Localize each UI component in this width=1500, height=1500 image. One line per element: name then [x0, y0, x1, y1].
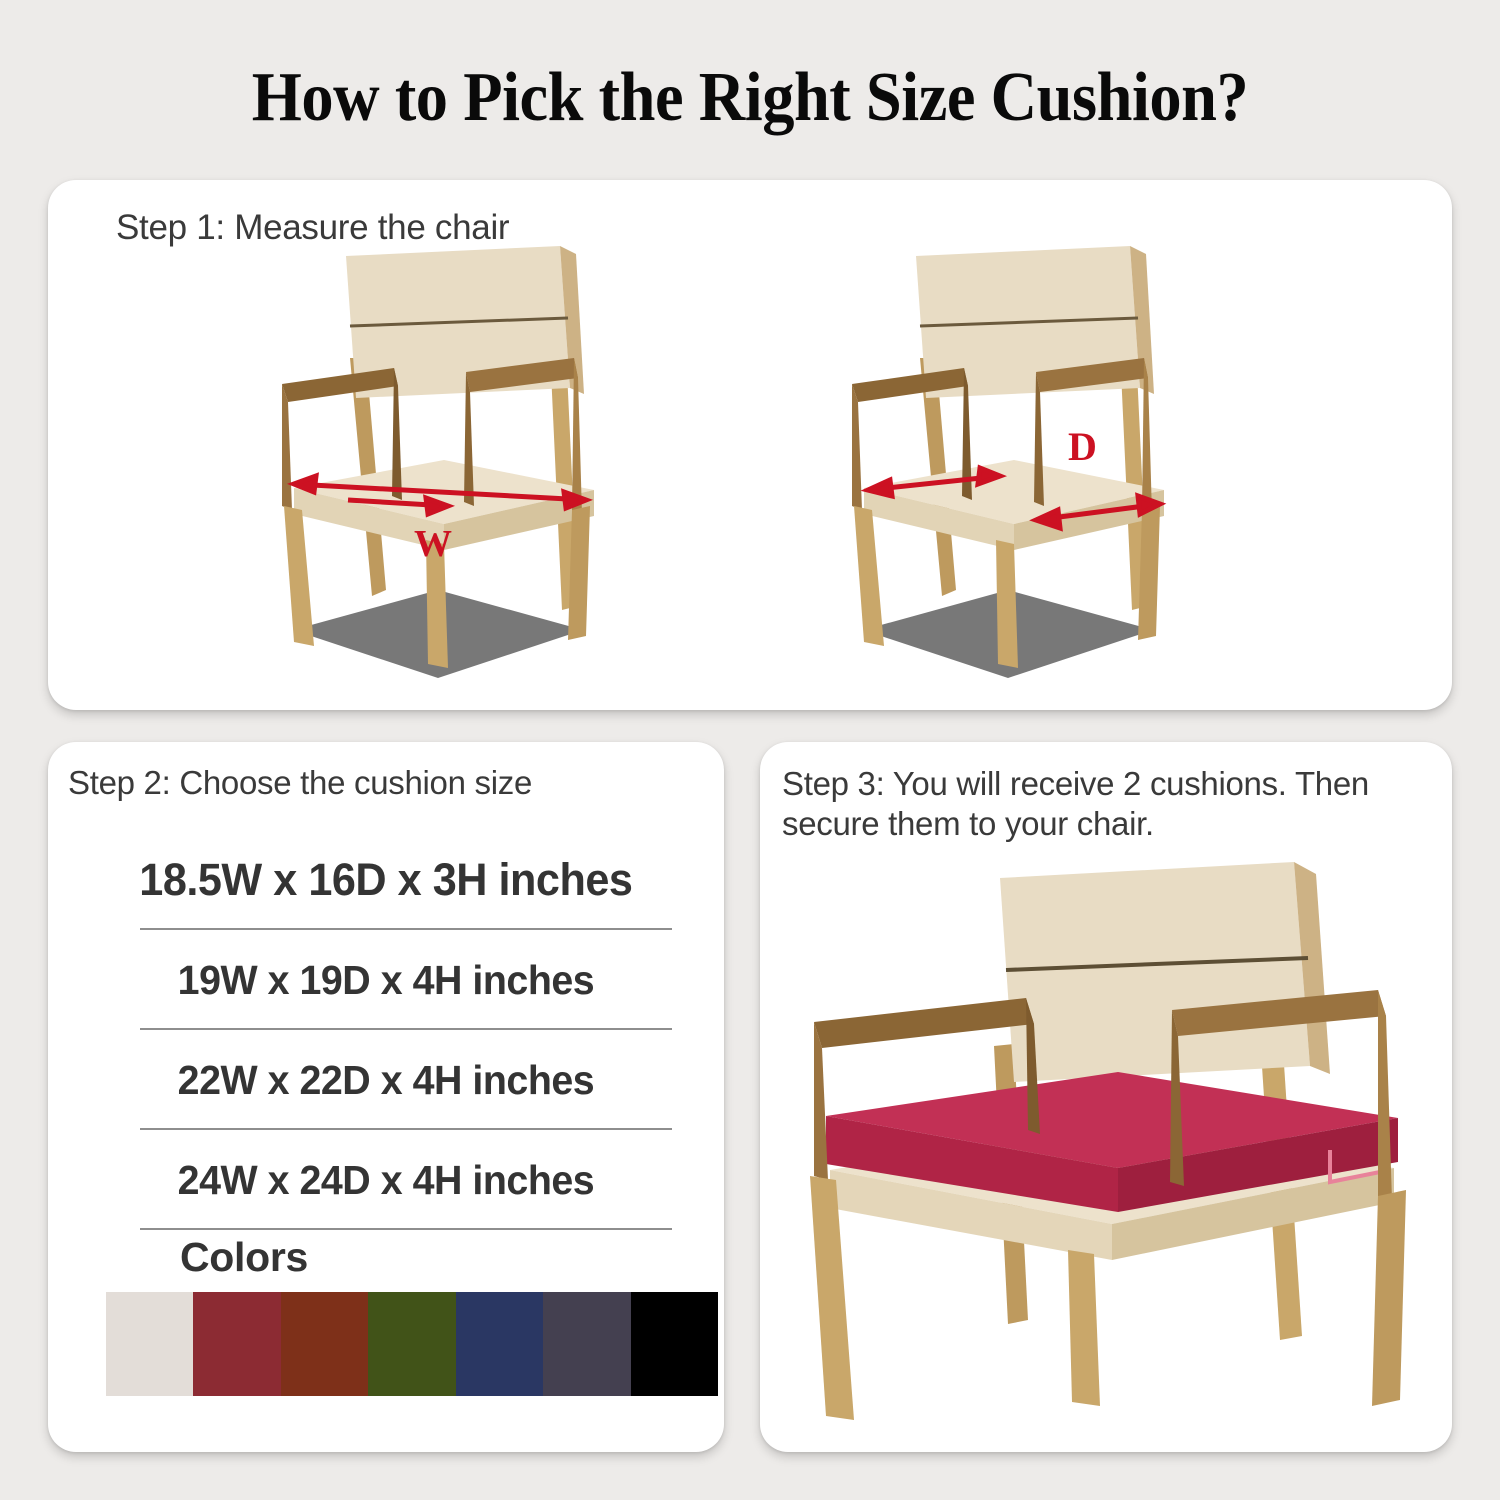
size-option-label: 22W x 22D x 4H inches	[178, 1057, 595, 1104]
cushion-size-list: 18.5W x 16D x 3H inches 19W x 19D x 4H i…	[48, 830, 724, 1230]
size-option-label: 19W x 19D x 4H inches	[178, 957, 595, 1004]
infographic-page: How to Pick the Right Size Cushion? Step…	[0, 0, 1500, 1500]
color-swatch-strip	[106, 1292, 718, 1396]
width-label: W	[414, 523, 452, 565]
color-swatch-black[interactable]	[631, 1292, 718, 1396]
size-option-label: 18.5W x 16D x 3H inches	[139, 854, 632, 906]
size-option-row[interactable]: 19W x 19D x 4H inches	[48, 930, 724, 1030]
size-option-row[interactable]: 24W x 24D x 4H inches	[48, 1130, 724, 1230]
size-option-row[interactable]: 18.5W x 16D x 3H inches	[48, 830, 724, 930]
size-separator	[140, 1228, 672, 1230]
step1-card: Step 1: Measure the chair	[48, 180, 1452, 710]
size-option-row[interactable]: 22W x 22D x 4H inches	[48, 1030, 724, 1130]
colors-heading: Colors	[180, 1234, 308, 1281]
page-title: How to Pick the Right Size Cushion?	[60, 58, 1440, 138]
step3-card: Step 3: You will receive 2 cushions. The…	[760, 742, 1452, 1452]
color-swatch-olive-green[interactable]	[368, 1292, 455, 1396]
color-swatch-charcoal-purple[interactable]	[543, 1292, 630, 1396]
color-swatch-navy-blue[interactable]	[456, 1292, 543, 1396]
depth-label: D	[1068, 424, 1097, 469]
color-swatch-beige[interactable]	[106, 1292, 193, 1396]
chair-back-panel	[1000, 862, 1310, 1082]
size-option-label: 24W x 24D x 4H inches	[178, 1157, 595, 1204]
color-swatch-rust-brown[interactable]	[281, 1292, 368, 1396]
step2-label: Step 2: Choose the cushion size	[68, 764, 532, 802]
step2-card: Step 2: Choose the cushion size 18.5W x …	[48, 742, 724, 1452]
chair-with-cushion-illustration	[782, 850, 1442, 1450]
chair-depth-illustration: D	[768, 238, 1248, 688]
chair-width-illustration: W	[198, 238, 678, 688]
color-swatch-crimson-red[interactable]	[193, 1292, 280, 1396]
step3-label: Step 3: You will receive 2 cushions. The…	[782, 764, 1442, 845]
